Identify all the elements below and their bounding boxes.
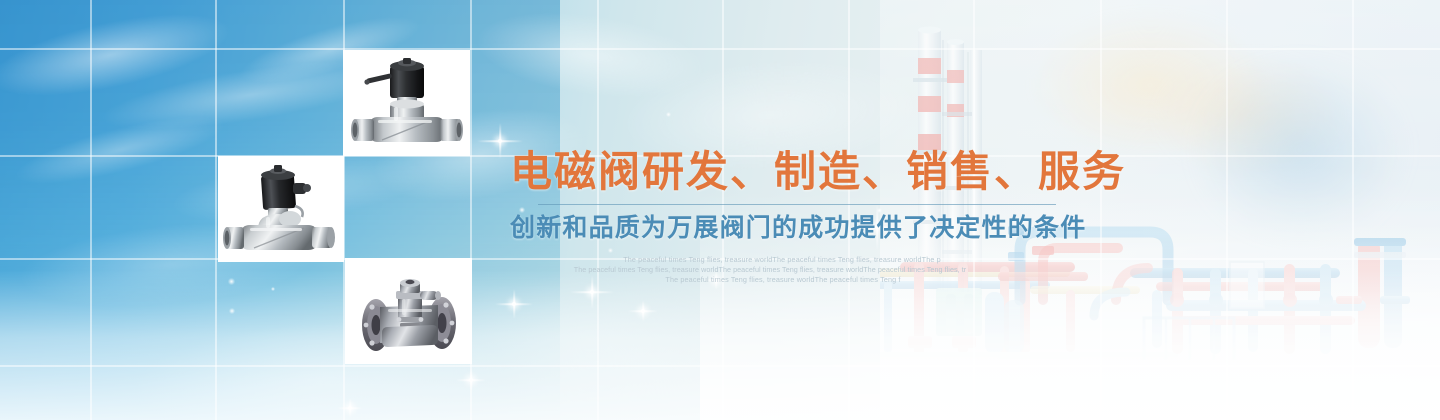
- fineprint-line: The peaceful times Teng flies, treasure …: [510, 265, 1030, 275]
- banner-copy: 电磁阀研发、制造、销售、服务 创新和品质为万展阀门的成功提供了决定性的条件 Th…: [510, 148, 1190, 285]
- banner-subheadline: 创新和品质为万展阀门的成功提供了决定性的条件: [510, 213, 1190, 243]
- fineprint-line: The peaceful times Teng flies, treasure …: [510, 275, 1030, 285]
- hero-banner: 电磁阀研发、制造、销售、服务 创新和品质为万展阀门的成功提供了决定性的条件 Th…: [0, 0, 1440, 420]
- solenoid-valve-threaded-angled-icon: [222, 159, 340, 259]
- product-tile-solenoid-valve-threaded-angled[interactable]: [218, 156, 344, 262]
- product-tile-solenoid-valve-flanged[interactable]: [345, 258, 472, 364]
- solenoid-valve-flanged-icon: [350, 261, 468, 361]
- banner-fineprint: The peaceful times Teng flies, treasure …: [510, 255, 1030, 285]
- headline-divider: [538, 204, 1056, 205]
- product-tile-solenoid-valve-threaded-inline[interactable]: [343, 50, 470, 156]
- banner-headline: 电磁阀研发、制造、销售、服务: [510, 148, 1190, 195]
- fineprint-line: The peaceful times Teng flies, treasure …: [510, 255, 1030, 265]
- solenoid-valve-threaded-inline-icon: [348, 53, 466, 153]
